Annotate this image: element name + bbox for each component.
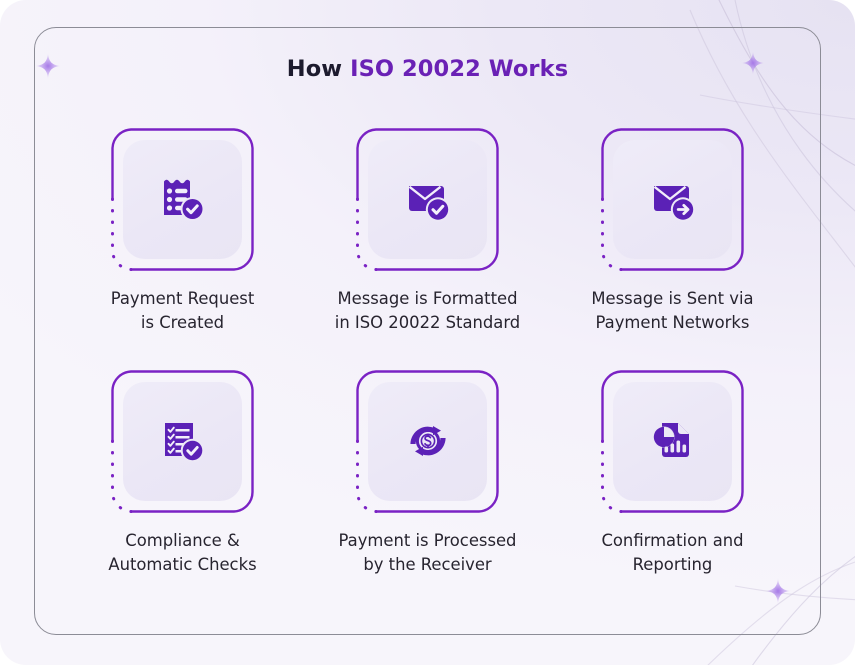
envelope-arrow-right-icon [645, 172, 701, 228]
step-2-tile[interactable] [356, 128, 499, 271]
step-3-icon-plate [613, 140, 732, 259]
step-card-3[interactable]: Message is Sent via Payment Networks [550, 128, 795, 336]
page-title: How ISO 20022 Works [0, 56, 855, 82]
step-3-label: Message is Sent via Payment Networks [591, 287, 753, 336]
step-2-icon-plate [368, 140, 487, 259]
money-sync-icon [400, 413, 456, 469]
checklist-verified-icon [155, 413, 211, 469]
step-card-4[interactable]: Compliance & Automatic Checks [60, 370, 305, 578]
step-1-icon-plate [123, 140, 242, 259]
step-4-label: Compliance & Automatic Checks [108, 529, 256, 578]
step-card-2[interactable]: Message is Formatted in ISO 20022 Standa… [305, 128, 550, 336]
step-1-tile[interactable] [111, 128, 254, 271]
step-6-tile[interactable] [601, 370, 744, 513]
step-6-label: Confirmation and Reporting [601, 529, 743, 578]
clipboard-check-icon [155, 172, 211, 228]
envelope-check-icon [400, 172, 456, 228]
step-4-tile[interactable] [111, 370, 254, 513]
step-1-label: Payment Request is Created [111, 287, 255, 336]
step-card-5[interactable]: Payment is Processed by the Receiver [305, 370, 550, 578]
step-4-icon-plate [123, 382, 242, 501]
step-6-icon-plate [613, 382, 732, 501]
step-5-label: Payment is Processed by the Receiver [339, 529, 517, 578]
step-card-6[interactable]: Confirmation and Reporting [550, 370, 795, 578]
report-chart-icon [645, 413, 701, 469]
infographic-page: How ISO 20022 Works [0, 0, 855, 665]
page-title-accent: ISO 20022 Works [350, 56, 568, 82]
page-title-prefix: How [287, 56, 350, 82]
steps-grid: Payment Request is Created [60, 128, 795, 577]
step-5-icon-plate [368, 382, 487, 501]
step-2-label: Message is Formatted in ISO 20022 Standa… [335, 287, 520, 336]
step-3-tile[interactable] [601, 128, 744, 271]
step-card-1[interactable]: Payment Request is Created [60, 128, 305, 336]
step-5-tile[interactable] [356, 370, 499, 513]
